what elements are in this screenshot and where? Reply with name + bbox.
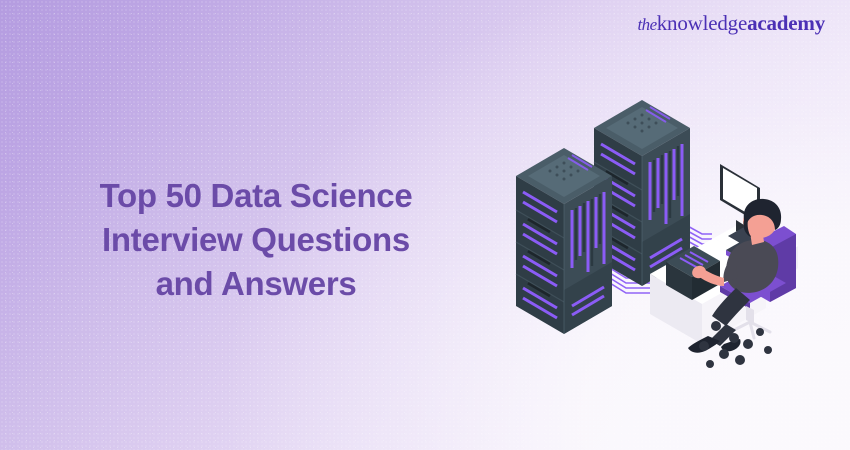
banner-root: theknowledgeacademy Top 50 Data Science … — [0, 0, 850, 450]
brand-logo[interactable]: theknowledgeacademy — [637, 11, 825, 37]
logo-word-the: the — [637, 15, 656, 34]
title-line-1: Top 50 Data Science — [46, 174, 466, 218]
page-title: Top 50 Data Science Interview Questions … — [46, 174, 466, 306]
logo-word-academy: academy — [747, 11, 825, 35]
title-line-3: and Answers — [46, 262, 466, 306]
server-rack-front — [516, 148, 612, 334]
title-line-2: Interview Questions — [46, 218, 466, 262]
logo-word-knowledge: knowledge — [657, 11, 747, 35]
illustration — [498, 92, 850, 402]
